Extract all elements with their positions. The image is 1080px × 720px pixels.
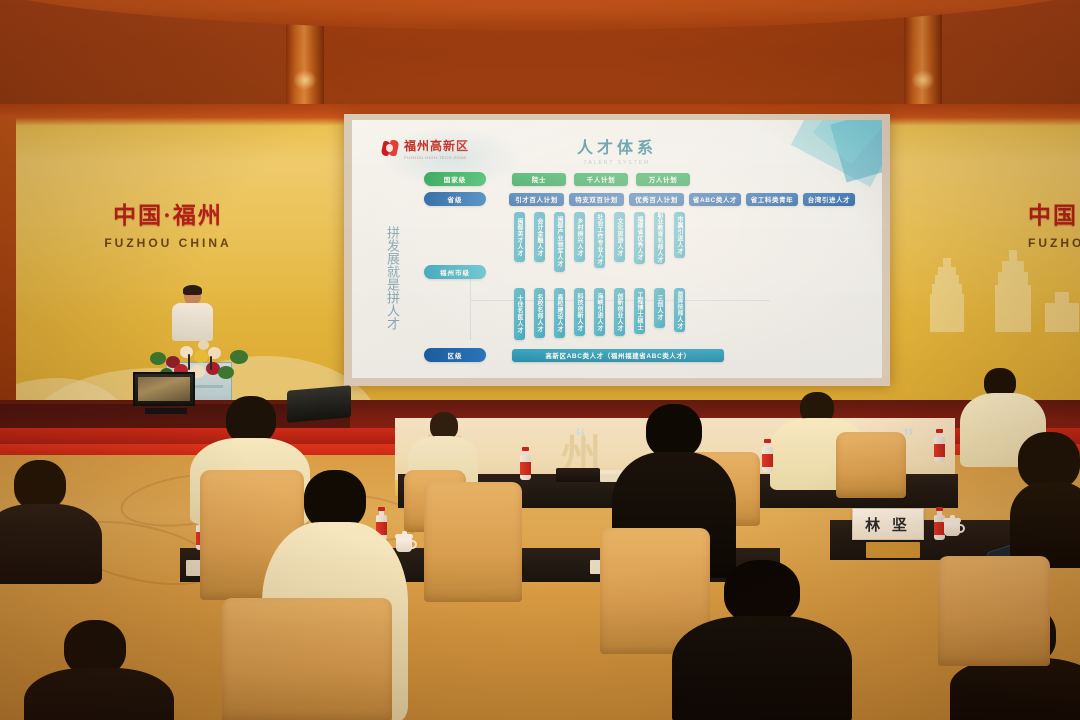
audience-person (412, 412, 484, 492)
chart-box-district: 高新区ABC类人才（福州福建省ABC类人才） (512, 349, 724, 362)
stage-monitor (133, 372, 195, 406)
water-bottle (934, 430, 945, 462)
eyeglasses (1030, 464, 1060, 474)
speaker-hair (183, 285, 202, 295)
chart-vbox-city: 职业教育名师人才 (654, 212, 665, 264)
level-label-district: 区级 (424, 348, 486, 362)
backdrop-left-edge (0, 110, 16, 410)
chart-vbox-city: 创新创业人才 (614, 288, 625, 336)
talent-system-chart: 拼发展就是拼人才 国家级 院士 千人计划 万人计划 省级 引才百人计划 (352, 170, 882, 372)
quote-mark-icon: “ (575, 424, 586, 450)
chart-box-provincial: 省工科类青年 (746, 193, 798, 206)
water-bottle (762, 440, 773, 472)
tea-mug (944, 516, 960, 536)
backdrop-brand-left: 中国·福州 FUZHOU CHINA (78, 196, 258, 250)
chart-box-national: 千人计划 (574, 173, 628, 186)
audience-person (0, 460, 102, 580)
chart-box-provincial: 特支双百计划 (569, 193, 624, 206)
chart-vbox-city: 工程博士硕士 (634, 288, 645, 334)
chart-box-provincial: 优秀百人计划 (629, 193, 684, 206)
chart-vbox-city: 社会工作专业人才 (594, 212, 605, 268)
backdrop-brand-right: 中国·福州 FUZHOU CHINA (1028, 196, 1080, 250)
chart-row-district: 区级 高新区ABC类人才（福州福建省ABC类人才） (424, 348, 724, 362)
conference-photo: 中国·福州 FUZHOU CHINA 中国·福州 FUZHOU CHINA 福州… (0, 0, 1080, 720)
chair (938, 556, 1050, 666)
chart-row-provincial: 省级 引才百人计划 特支双百计划 优秀百人计划 省ABC类人才 省工科类青年 台… (424, 192, 855, 206)
projected-slide: 福州高新区 FUZHOU HIGH-TECH ZONE 人才体系 TALENT … (352, 120, 882, 378)
chart-vbox-city: 海峡引进人才 (594, 288, 605, 336)
chart-vbox-city: 文化旅游人才 (614, 212, 625, 262)
brand-chinese-text: 中国·福州 (1028, 196, 1080, 230)
chart-vbox-city: 首席技师人才 (674, 288, 685, 332)
level-label-national: 国家级 (424, 172, 486, 186)
audience-person (672, 560, 852, 720)
chart-vbox-city: 乡村振兴人才 (574, 212, 585, 262)
chart-box-provincial: 引才百人计划 (509, 193, 564, 206)
pagoda-silhouette (995, 250, 1031, 332)
pagoda-silhouette (1045, 292, 1079, 332)
chart-row-city-label: 福州市级 (424, 265, 486, 279)
pagoda-silhouette (930, 258, 964, 332)
chart-row-city-top: 闽都英才人才 会计金融人才 闽都产业领军人才 乡村振兴人才 社会工作专业人才 文… (514, 212, 685, 272)
slide-title-chinese: 人才体系 (352, 134, 882, 158)
chart-box-provincial: 台湾引进人才 (803, 193, 855, 206)
chair (424, 482, 522, 602)
projection-screen-frame: 福州高新区 FUZHOU HIGH-TECH ZONE 人才体系 TALENT … (344, 114, 890, 386)
microphone (210, 356, 212, 370)
audience-person (1010, 432, 1080, 562)
audience-person (796, 382, 892, 492)
slide-title-english: TALENT SYSTEM (352, 160, 882, 166)
chart-box-national: 万人计划 (636, 173, 690, 186)
microphone (188, 354, 190, 370)
water-bottle (520, 448, 531, 480)
paper-document (866, 542, 920, 558)
chart-vbox-city: 科技创新人才 (574, 288, 585, 336)
chart-row-national: 国家级 院士 千人计划 万人计划 (424, 172, 690, 186)
level-label-city: 福州市级 (424, 265, 486, 279)
chart-vbox-city: 闽都产业领军人才 (554, 212, 565, 272)
chart-vbox-city: 高校建设人才 (554, 288, 565, 338)
level-label-provincial: 省级 (424, 192, 486, 206)
chart-box-provincial: 省ABC类人才 (689, 193, 741, 206)
chart-row-city-bottom: 十佳名医人才 名校名师人才 高校建设人才 科技创新人才 海峡引进人才 创新创业人… (514, 288, 685, 340)
chart-vbox-city: 福建省优秀人才 (634, 212, 645, 264)
audience-person (24, 620, 174, 720)
name-placard: 林 坚 (852, 508, 924, 540)
chart-vbox-city: 闽都英才人才 (514, 212, 525, 262)
chart-vbox-city: 十佳名医人才 (514, 288, 525, 340)
brand-english-text: FUZHOU CHINA (78, 236, 258, 250)
slide-side-motto: 拼发展就是拼人才 (374, 188, 400, 368)
chart-vbox-city: 三创人才 (654, 288, 665, 328)
chair (222, 598, 392, 720)
chart-vbox-city: 市属引进人才 (674, 212, 685, 258)
brand-english-text: FUZHOU CHINA (1028, 236, 1080, 250)
notebook (556, 468, 600, 482)
slide-title: 人才体系 TALENT SYSTEM (352, 134, 882, 166)
chart-vbox-city: 名校名师人才 (534, 288, 545, 338)
chart-box-national: 院士 (512, 173, 566, 186)
chart-vbox-city: 会计金融人才 (534, 212, 545, 262)
brand-chinese-text: 中国·福州 (78, 196, 258, 230)
